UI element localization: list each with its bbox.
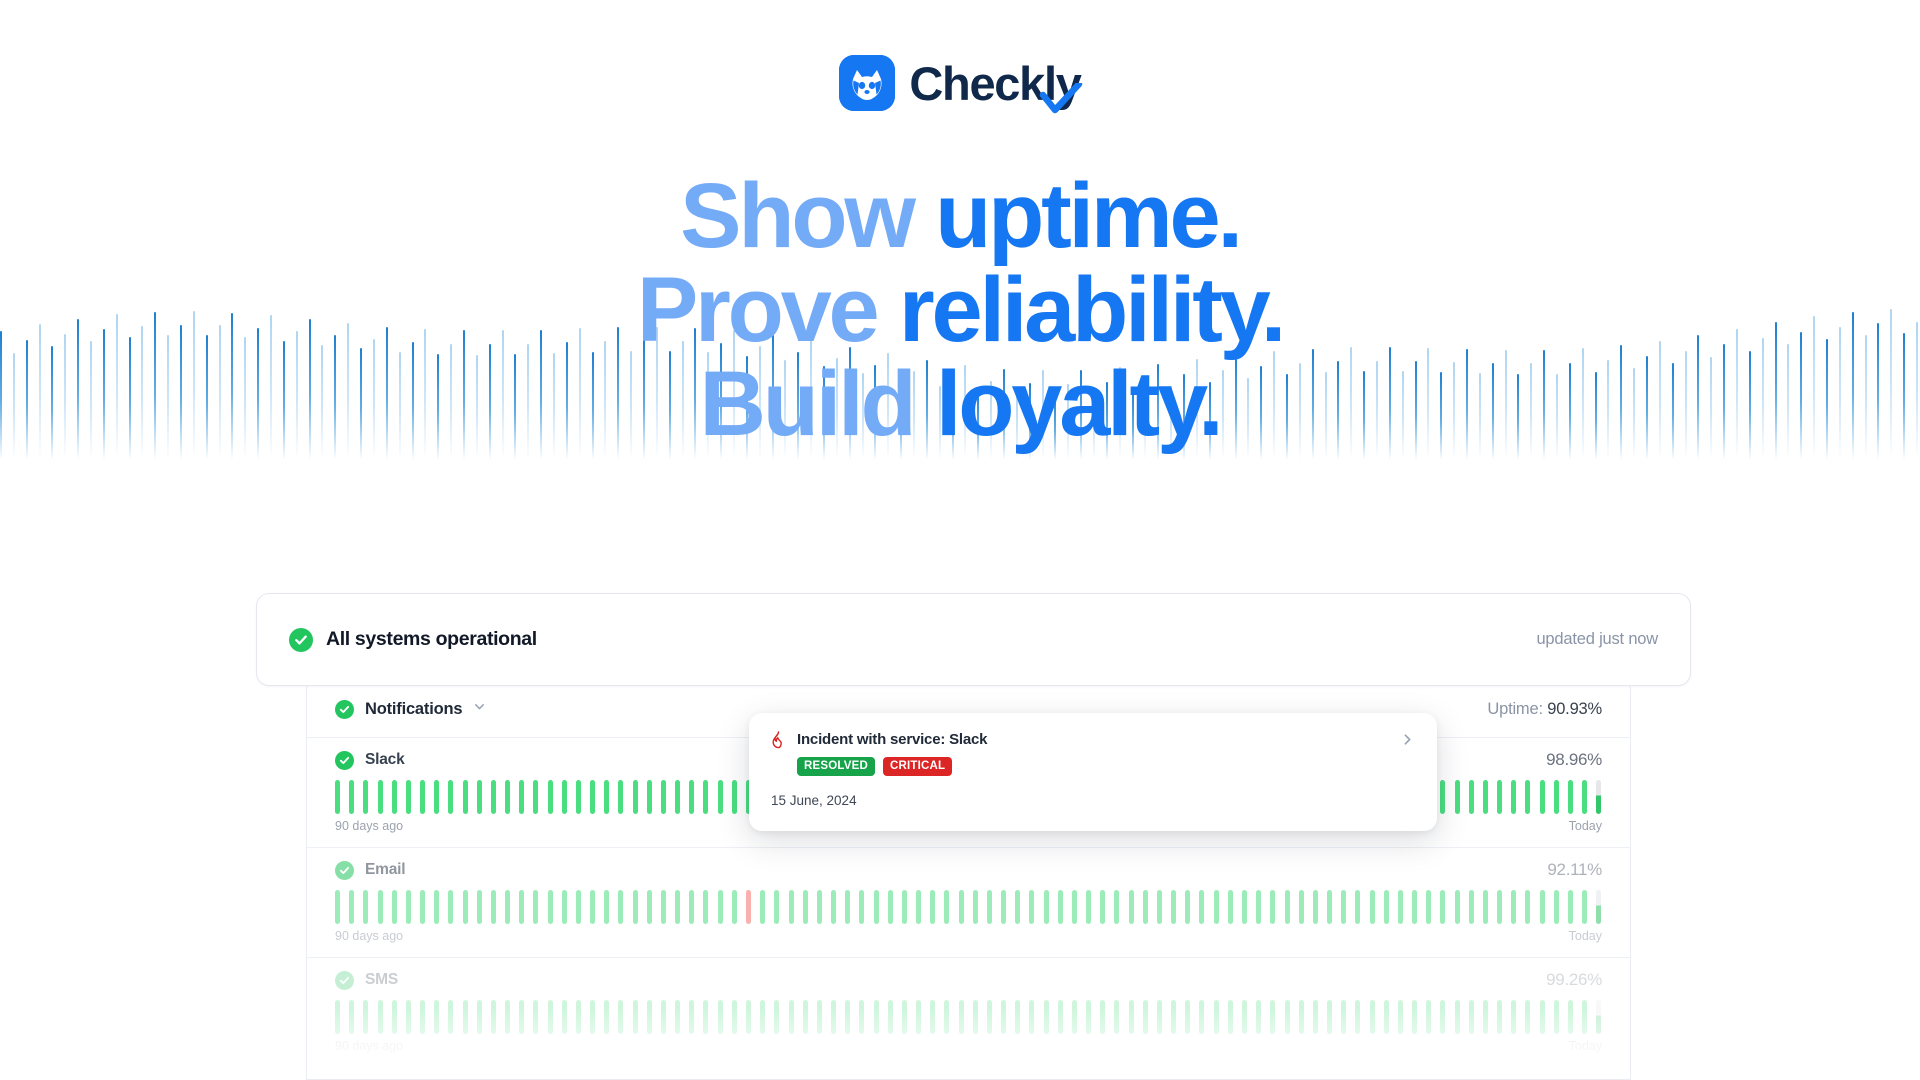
uptime-bar-ok[interactable] (1157, 1000, 1162, 1034)
uptime-bar-ok[interactable] (1214, 1000, 1219, 1034)
uptime-bar-ok[interactable] (1285, 890, 1290, 924)
uptime-bar-ok[interactable] (1384, 890, 1389, 924)
uptime-axis: 90 days agoToday (335, 929, 1602, 943)
uptime-bar-ok[interactable] (1114, 1000, 1119, 1034)
uptime-bar-ok[interactable] (406, 780, 411, 814)
uptime-axis: 90 days agoToday (335, 1039, 1602, 1053)
uptime-bar-ok[interactable] (1270, 1000, 1275, 1034)
uptime-bar-ok[interactable] (647, 890, 652, 924)
headline-line-2: Prove reliability. (0, 264, 1920, 358)
uptime-bar-ok[interactable] (392, 780, 397, 814)
uptime-bar-ok[interactable] (1199, 890, 1204, 924)
service-uptime: 99.26% (1546, 970, 1602, 990)
uptime-bar-ok[interactable] (959, 890, 964, 924)
uptime-bar-ok[interactable] (420, 780, 425, 814)
uptime-bar-ok[interactable] (618, 890, 623, 924)
uptime-bar-ok[interactable] (902, 1000, 907, 1034)
checkly-raccoon-logo-icon (839, 55, 895, 111)
uptime-bar-ok[interactable] (448, 1000, 453, 1034)
uptime-bar-ok[interactable] (1426, 1000, 1431, 1034)
uptime-bar-ok[interactable] (859, 890, 864, 924)
uptime-bar-ok[interactable] (1029, 1000, 1034, 1034)
uptime-bar-ok[interactable] (505, 1000, 510, 1034)
uptime-bar-ok[interactable] (1511, 890, 1516, 924)
uptime-bar-ok[interactable] (1242, 890, 1247, 924)
uptime-bar-ok[interactable] (519, 780, 524, 814)
uptime-bar-ok[interactable] (335, 890, 340, 924)
uptime-bar-ok[interactable] (1412, 890, 1417, 924)
uptime-bar-ok[interactable] (576, 780, 581, 814)
uptime-bar-ok[interactable] (1483, 1000, 1488, 1034)
uptime-bar-ok[interactable] (633, 1000, 638, 1034)
uptime-bar-ok[interactable] (1568, 890, 1573, 924)
uptime-bar-ok[interactable] (349, 780, 354, 814)
uptime-bar-ok[interactable] (1455, 1000, 1460, 1034)
uptime-bar-ok[interactable] (633, 780, 638, 814)
uptime-bar-ok[interactable] (1228, 890, 1233, 924)
uptime-bar-ok[interactable] (548, 1000, 553, 1034)
uptime-bar-ok[interactable] (675, 780, 680, 814)
uptime-bar-ok[interactable] (378, 890, 383, 924)
uptime-bar-ok[interactable] (1540, 780, 1545, 814)
uptime-bar-ok[interactable] (1525, 780, 1530, 814)
flame-icon (771, 731, 786, 754)
uptime-bar-ok[interactable] (973, 890, 978, 924)
check-circle-icon (335, 700, 354, 719)
service-name: SMS (365, 971, 398, 989)
uptime-bar-ok[interactable] (831, 890, 836, 924)
uptime-bar-ok[interactable] (505, 890, 510, 924)
uptime-bar-ok[interactable] (1398, 890, 1403, 924)
uptime-bar-ok[interactable] (448, 780, 453, 814)
uptime-bar-ok[interactable] (689, 890, 694, 924)
uptime-bar-ok[interactable] (1384, 1000, 1389, 1034)
uptime-bar-ok[interactable] (703, 780, 708, 814)
uptime-bar-ok[interactable] (463, 890, 468, 924)
uptime-bar-ok[interactable] (859, 1000, 864, 1034)
uptime-bar-ok[interactable] (1072, 1000, 1077, 1034)
axis-start-label: 90 days ago (335, 1039, 403, 1053)
overall-status-title: All systems operational (326, 628, 537, 651)
service-name: Email (365, 861, 405, 879)
uptime-bar-ok[interactable] (1440, 1000, 1445, 1034)
uptime-bar-ok[interactable] (831, 1000, 836, 1034)
uptime-bar-ok[interactable] (1313, 890, 1318, 924)
uptime-bar-ok[interactable] (1313, 1000, 1318, 1034)
uptime-bar-ok[interactable] (392, 1000, 397, 1034)
uptime-bar-ok[interactable] (1568, 780, 1573, 814)
incident-date: 15 June, 2024 (771, 793, 1415, 808)
service-name: Slack (365, 751, 405, 769)
uptime-bar-ok[interactable] (874, 890, 879, 924)
uptime-bar-ok[interactable] (1525, 1000, 1530, 1034)
uptime-bar-ok[interactable] (746, 1000, 751, 1034)
uptime-bar-ok[interactable] (1426, 890, 1431, 924)
uptime-bar-ok[interactable] (406, 1000, 411, 1034)
uptime-bar-ok[interactable] (590, 890, 595, 924)
uptime-bar-ok[interactable] (463, 1000, 468, 1034)
uptime-bar-ok[interactable] (732, 890, 737, 924)
uptime-bar-ok[interactable] (789, 890, 794, 924)
uptime-bar-ok[interactable] (1440, 780, 1445, 814)
uptime-bar-ok[interactable] (1299, 890, 1304, 924)
uptime-bar-ok[interactable] (888, 890, 893, 924)
uptime-bar-ok[interactable] (491, 890, 496, 924)
uptime-bar-ok[interactable] (1299, 1000, 1304, 1034)
uptime-bar-ok[interactable] (647, 1000, 652, 1034)
uptime-bar-ok[interactable] (1398, 1000, 1403, 1034)
uptime-bar-ok[interactable] (1440, 890, 1445, 924)
incident-popup-card[interactable]: Incident with service: Slack RESOLVED CR… (749, 713, 1437, 831)
headline-light-3: Build (700, 353, 914, 455)
uptime-bar-ok[interactable] (1029, 890, 1034, 924)
uptime-bar-ok[interactable] (774, 890, 779, 924)
uptime-bar-ok[interactable] (1327, 1000, 1332, 1034)
checkmark-icon (1039, 77, 1083, 124)
uptime-bar-ok[interactable] (378, 1000, 383, 1034)
uptime-bar-chart (335, 1000, 1602, 1034)
uptime-bar-ok[interactable] (1044, 890, 1049, 924)
uptime-bar-ok[interactable] (1185, 1000, 1190, 1034)
chevron-down-icon[interactable] (473, 700, 486, 718)
uptime-bar-ok[interactable] (987, 890, 992, 924)
uptime-bar-ok[interactable] (647, 780, 652, 814)
uptime-bar-ok[interactable] (1015, 1000, 1020, 1034)
uptime-bar-ok[interactable] (406, 890, 411, 924)
uptime-bar-ok[interactable] (434, 890, 439, 924)
uptime-bar-ok[interactable] (1129, 890, 1134, 924)
status-badge-resolved: RESOLVED (797, 757, 875, 776)
brand-wordmark: Checkly (909, 60, 1080, 107)
uptime-bar-ok[interactable] (789, 1000, 794, 1034)
uptime-bar-ok[interactable] (335, 1000, 340, 1034)
uptime-bar-ok[interactable] (363, 1000, 368, 1034)
uptime-bar-ok[interactable] (1327, 890, 1332, 924)
uptime-bar-ok[interactable] (930, 1000, 935, 1034)
group-uptime: Uptime: 90.93% (1487, 700, 1602, 719)
uptime-bar-ok[interactable] (1143, 1000, 1148, 1034)
axis-start-label: 90 days ago (335, 929, 403, 943)
service-group-title: Notifications (365, 700, 462, 719)
check-circle-icon (335, 971, 354, 990)
uptime-bar-ok[interactable] (392, 890, 397, 924)
uptime-bar-ok[interactable] (1497, 1000, 1502, 1034)
uptime-bar-ok[interactable] (618, 1000, 623, 1034)
uptime-bar-ok[interactable] (817, 890, 822, 924)
uptime-bar-ok[interactable] (1568, 1000, 1573, 1034)
uptime-bar-ok[interactable] (1044, 1000, 1049, 1034)
uptime-bar-ok[interactable] (1015, 890, 1020, 924)
service-uptime: 98.96% (1546, 750, 1602, 770)
uptime-bar-ok[interactable] (363, 780, 368, 814)
uptime-bar-ok[interactable] (533, 890, 538, 924)
uptime-bar-today[interactable] (1596, 780, 1601, 814)
uptime-bar-ok[interactable] (335, 780, 340, 814)
uptime-bar-ok[interactable] (477, 1000, 482, 1034)
headline-line-1: Show uptime. (0, 170, 1920, 264)
uptime-bar-ok[interactable] (902, 890, 907, 924)
uptime-bar-ok[interactable] (987, 1000, 992, 1034)
group-uptime-label: Uptime: (1487, 700, 1542, 718)
uptime-bar-ok[interactable] (1001, 890, 1006, 924)
uptime-bar-ok[interactable] (817, 1000, 822, 1034)
uptime-bar-ok[interactable] (349, 890, 354, 924)
uptime-bar-ok[interactable] (1242, 1000, 1247, 1034)
uptime-bar-ok[interactable] (1511, 1000, 1516, 1034)
uptime-bar-ok[interactable] (930, 890, 935, 924)
uptime-bar-ok[interactable] (1058, 1000, 1063, 1034)
service-uptime: 92.11% (1547, 860, 1602, 880)
uptime-bar-ok[interactable] (689, 780, 694, 814)
uptime-bar-ok[interactable] (1100, 890, 1105, 924)
incident-badges: RESOLVED CRITICAL (797, 757, 987, 776)
uptime-bar-ok[interactable] (576, 1000, 581, 1034)
uptime-bar-ok[interactable] (916, 1000, 921, 1034)
uptime-bar-ok[interactable] (661, 890, 666, 924)
uptime-bar-ok[interactable] (732, 1000, 737, 1034)
axis-end-label: Today (1569, 1039, 1602, 1053)
uptime-bar-ok[interactable] (548, 780, 553, 814)
uptime-bar-ok[interactable] (1114, 890, 1119, 924)
uptime-bar-ok[interactable] (874, 1000, 879, 1034)
uptime-bar-ok[interactable] (434, 780, 439, 814)
uptime-bar-ok[interactable] (363, 890, 368, 924)
group-uptime-value: 90.93% (1547, 700, 1602, 718)
uptime-bar-ok[interactable] (760, 890, 765, 924)
uptime-bar-ok[interactable] (633, 890, 638, 924)
uptime-bar-ok[interactable] (1285, 1000, 1290, 1034)
uptime-bar-ok[interactable] (845, 1000, 850, 1034)
uptime-bar-ok[interactable] (718, 890, 723, 924)
service-row[interactable]: SMS99.26%90 days agoToday (307, 958, 1630, 1053)
uptime-bar-ok[interactable] (661, 1000, 666, 1034)
uptime-bar-ok[interactable] (604, 1000, 609, 1034)
uptime-bar-ok[interactable] (576, 890, 581, 924)
uptime-bar-ok[interactable] (1086, 890, 1091, 924)
uptime-bar-ok[interactable] (1412, 1000, 1417, 1034)
headline-line-3: Build loyalty. (0, 358, 1920, 452)
uptime-bar-ok[interactable] (1214, 890, 1219, 924)
headline-light-1: Show (680, 165, 913, 267)
uptime-bar-ok[interactable] (1171, 890, 1176, 924)
uptime-bar-ok[interactable] (1199, 1000, 1204, 1034)
axis-end-label: Today (1569, 819, 1602, 833)
uptime-bar-ok[interactable] (477, 780, 482, 814)
uptime-bar-ok[interactable] (944, 1000, 949, 1034)
uptime-bar-ok[interactable] (760, 1000, 765, 1034)
uptime-bar-ok[interactable] (703, 890, 708, 924)
uptime-bar-ok[interactable] (718, 780, 723, 814)
uptime-bar-ok[interactable] (604, 890, 609, 924)
uptime-bar-chart (335, 890, 1602, 924)
uptime-bar-ok[interactable] (562, 1000, 567, 1034)
uptime-bar-ok[interactable] (618, 780, 623, 814)
check-circle-icon (335, 751, 354, 770)
uptime-bar-ok[interactable] (604, 780, 609, 814)
uptime-bar-ok[interactable] (463, 780, 468, 814)
uptime-bar-ok[interactable] (803, 890, 808, 924)
uptime-bar-ok[interactable] (803, 1000, 808, 1034)
uptime-bar-down[interactable] (746, 890, 751, 924)
uptime-bar-ok[interactable] (1554, 1000, 1559, 1034)
uptime-bar-ok[interactable] (519, 1000, 524, 1034)
uptime-bar-ok[interactable] (888, 1000, 893, 1034)
headline-bold-1: uptime. (935, 165, 1240, 267)
uptime-bar-ok[interactable] (477, 890, 482, 924)
page-title: Show uptime. Prove reliability. Build lo… (0, 170, 1920, 451)
uptime-bar-ok[interactable] (1469, 890, 1474, 924)
uptime-bar-ok[interactable] (491, 1000, 496, 1034)
uptime-bar-ok[interactable] (944, 890, 949, 924)
uptime-bar-today[interactable] (1596, 1000, 1601, 1034)
uptime-bar-ok[interactable] (1554, 780, 1559, 814)
uptime-bar-ok[interactable] (519, 890, 524, 924)
uptime-bar-today[interactable] (1596, 890, 1601, 924)
uptime-bar-ok[interactable] (1483, 780, 1488, 814)
uptime-bar-ok[interactable] (1370, 890, 1375, 924)
uptime-bar-ok[interactable] (349, 1000, 354, 1034)
uptime-bar-ok[interactable] (505, 780, 510, 814)
uptime-bar-ok[interactable] (1483, 890, 1488, 924)
uptime-bar-ok[interactable] (1256, 890, 1261, 924)
uptime-bar-ok[interactable] (1355, 1000, 1360, 1034)
uptime-bar-ok[interactable] (1582, 780, 1587, 814)
brand-logo: Checkly (0, 55, 1920, 111)
status-badge-critical: CRITICAL (883, 757, 952, 776)
uptime-bar-ok[interactable] (548, 890, 553, 924)
uptime-bar-ok[interactable] (1554, 890, 1559, 924)
uptime-bar-ok[interactable] (562, 890, 567, 924)
uptime-bar-ok[interactable] (590, 1000, 595, 1034)
uptime-bar-ok[interactable] (703, 1000, 708, 1034)
uptime-bar-ok[interactable] (1086, 1000, 1091, 1034)
uptime-bar-ok[interactable] (1540, 1000, 1545, 1034)
uptime-bar-ok[interactable] (718, 1000, 723, 1034)
uptime-bar-ok[interactable] (420, 890, 425, 924)
uptime-bar-ok[interactable] (845, 890, 850, 924)
uptime-bar-ok[interactable] (1540, 890, 1545, 924)
uptime-bar-ok[interactable] (1157, 890, 1162, 924)
headline-bold-2: reliability. (899, 259, 1283, 361)
uptime-bar-ok[interactable] (675, 1000, 680, 1034)
uptime-bar-ok[interactable] (1001, 1000, 1006, 1034)
uptime-bar-ok[interactable] (661, 780, 666, 814)
uptime-bar-ok[interactable] (1058, 890, 1063, 924)
incident-title: Incident with service: Slack (797, 731, 987, 748)
uptime-bar-ok[interactable] (533, 1000, 538, 1034)
check-circle-icon (335, 861, 354, 880)
uptime-bar-ok[interactable] (959, 1000, 964, 1034)
uptime-bar-ok[interactable] (1129, 1000, 1134, 1034)
overall-status-card: All systems operational updated just now (256, 593, 1691, 686)
uptime-bar-ok[interactable] (1072, 890, 1077, 924)
uptime-bar-ok[interactable] (1511, 780, 1516, 814)
uptime-bar-ok[interactable] (1525, 890, 1530, 924)
headline-bold-3: loyalty. (936, 353, 1221, 455)
uptime-bar-ok[interactable] (1355, 890, 1360, 924)
uptime-bar-ok[interactable] (378, 780, 383, 814)
chevron-right-icon[interactable] (1400, 731, 1415, 752)
check-circle-icon (289, 628, 313, 652)
axis-start-label: 90 days ago (335, 819, 403, 833)
uptime-bar-ok[interactable] (1469, 1000, 1474, 1034)
uptime-bar-ok[interactable] (675, 890, 680, 924)
uptime-bar-ok[interactable] (1582, 890, 1587, 924)
uptime-bar-ok[interactable] (973, 1000, 978, 1034)
axis-end-label: Today (1569, 929, 1602, 943)
uptime-bar-ok[interactable] (562, 780, 567, 814)
service-row[interactable]: Email92.11%90 days agoToday (307, 848, 1630, 943)
uptime-bar-ok[interactable] (1270, 890, 1275, 924)
uptime-bar-ok[interactable] (1455, 890, 1460, 924)
uptime-bar-ok[interactable] (420, 1000, 425, 1034)
uptime-bar-ok[interactable] (1143, 890, 1148, 924)
uptime-bar-ok[interactable] (1171, 1000, 1176, 1034)
uptime-bar-ok[interactable] (434, 1000, 439, 1034)
uptime-bar-ok[interactable] (533, 780, 538, 814)
headline-light-2: Prove (637, 259, 877, 361)
uptime-bar-ok[interactable] (1341, 890, 1346, 924)
uptime-bar-ok[interactable] (1341, 1000, 1346, 1034)
uptime-bar-ok[interactable] (689, 1000, 694, 1034)
last-updated-text: updated just now (1536, 630, 1658, 649)
uptime-bar-ok[interactable] (491, 780, 496, 814)
uptime-bar-ok[interactable] (1497, 890, 1502, 924)
uptime-bar-ok[interactable] (1370, 1000, 1375, 1034)
uptime-bar-ok[interactable] (774, 1000, 779, 1034)
uptime-bar-ok[interactable] (732, 780, 737, 814)
uptime-bar-ok[interactable] (1455, 780, 1460, 814)
uptime-bar-ok[interactable] (1185, 890, 1190, 924)
uptime-bar-ok[interactable] (1497, 780, 1502, 814)
uptime-bar-ok[interactable] (1469, 780, 1474, 814)
uptime-bar-ok[interactable] (1228, 1000, 1233, 1034)
uptime-bar-ok[interactable] (448, 890, 453, 924)
uptime-bar-ok[interactable] (1100, 1000, 1105, 1034)
uptime-bar-ok[interactable] (916, 890, 921, 924)
uptime-bar-ok[interactable] (1256, 1000, 1261, 1034)
uptime-bar-ok[interactable] (590, 780, 595, 814)
uptime-bar-ok[interactable] (1582, 1000, 1587, 1034)
